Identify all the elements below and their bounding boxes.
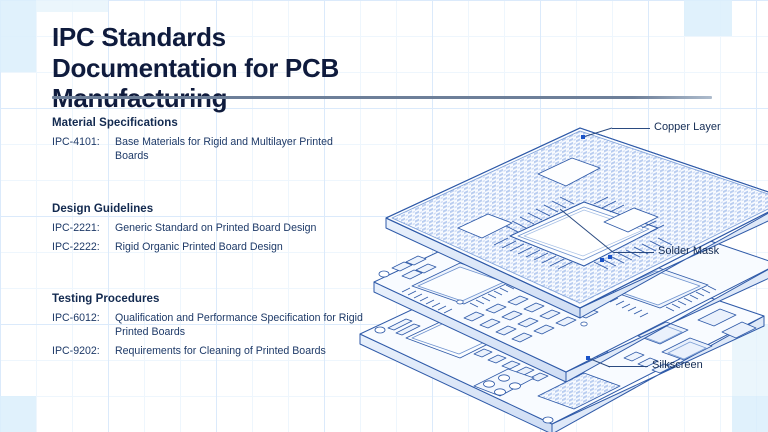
page-title-line2: Documentation for PCB Manufacturing bbox=[52, 53, 472, 114]
standard-entry-ipc-2221: IPC-2221: Generic Standard on Printed Bo… bbox=[52, 222, 364, 236]
standard-entry-ipc-6012: IPC-6012: Qualification and Performance … bbox=[52, 312, 364, 340]
section-material-specifications: Material Specifications IPC-4101: Base M… bbox=[52, 117, 364, 169]
section-divider-2 bbox=[52, 278, 348, 280]
standard-code: IPC-9202: bbox=[52, 345, 115, 359]
title-divider bbox=[52, 96, 712, 99]
section-divider-1 bbox=[52, 191, 348, 193]
standard-code: IPC-2221: bbox=[52, 222, 115, 236]
section-heading: Testing Procedures bbox=[52, 293, 364, 305]
standard-description: Generic Standard on Printed Board Design bbox=[115, 222, 364, 236]
standard-entry-ipc-4101: IPC-4101: Base Materials for Rigid and M… bbox=[52, 136, 364, 164]
page-title: IPC Standards Documentation for PCB Manu… bbox=[52, 22, 472, 114]
standard-description: Requirements for Cleaning of Printed Boa… bbox=[115, 345, 364, 359]
section-heading: Material Specifications bbox=[52, 117, 364, 129]
standard-entry-ipc-2222: IPC-2222: Rigid Organic Printed Board De… bbox=[52, 241, 364, 255]
content-column: IPC Standards Documentation for PCB Manu… bbox=[0, 0, 768, 432]
section-design-guidelines: Design Guidelines IPC-2221: Generic Stan… bbox=[52, 203, 364, 260]
standard-description: Qualification and Performance Specificat… bbox=[115, 312, 364, 340]
section-heading: Design Guidelines bbox=[52, 203, 364, 215]
standard-code: IPC-4101: bbox=[52, 136, 115, 164]
section-testing-procedures: Testing Procedures IPC-6012: Qualificati… bbox=[52, 293, 364, 364]
standard-description: Rigid Organic Printed Board Design bbox=[115, 241, 364, 255]
standard-code: IPC-6012: bbox=[52, 312, 115, 340]
slide-canvas: Copper Layer Solder Mask Silkscreen IPC … bbox=[0, 0, 768, 432]
standard-code: IPC-2222: bbox=[52, 241, 115, 255]
standard-description: Base Materials for Rigid and Multilayer … bbox=[115, 136, 364, 164]
page-title-line1: IPC Standards bbox=[52, 22, 472, 53]
standard-entry-ipc-9202: IPC-9202: Requirements for Cleaning of P… bbox=[52, 345, 364, 359]
